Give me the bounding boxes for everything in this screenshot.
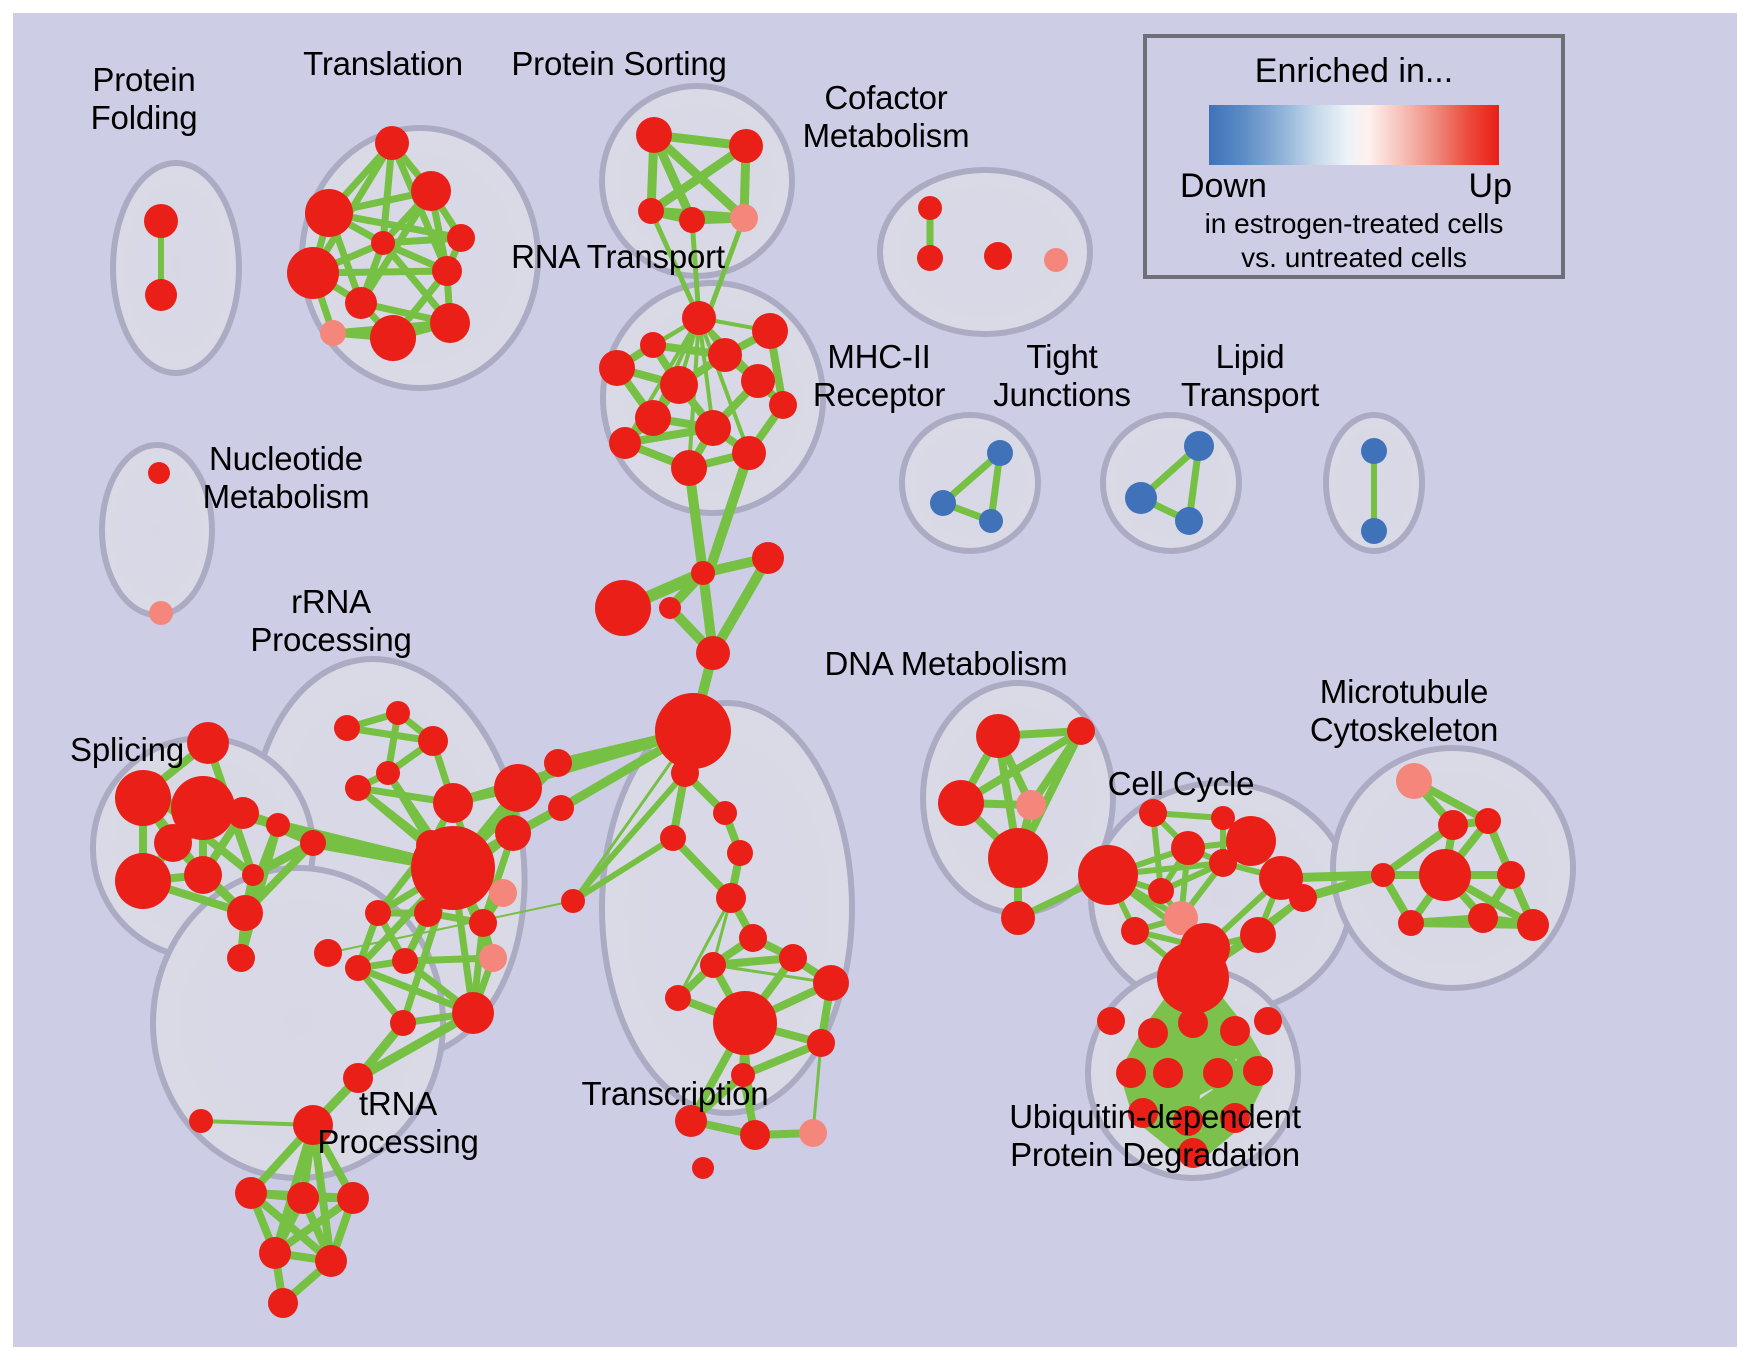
legend-box: Enriched in... Down Up in estrogen-treat… <box>1143 34 1565 279</box>
legend-color-gradient <box>1209 105 1499 165</box>
legend-high-label: Up <box>1469 167 1512 206</box>
legend-subtitle-line-2: vs. untreated cells <box>1147 241 1561 275</box>
legend-endpoints: Down Up <box>1174 167 1534 207</box>
legend-title: Enriched in... <box>1147 52 1561 91</box>
figure-root: Protein Folding Translation Protein Sort… <box>0 0 1750 1360</box>
legend-low-label: Down <box>1180 167 1267 206</box>
hull-protein-folding <box>113 163 239 373</box>
legend-subtitle-line-1: in estrogen-treated cells <box>1147 207 1561 241</box>
hull-tight-junctions <box>1103 415 1239 551</box>
network-canvas: Protein Folding Translation Protein Sort… <box>13 13 1737 1347</box>
